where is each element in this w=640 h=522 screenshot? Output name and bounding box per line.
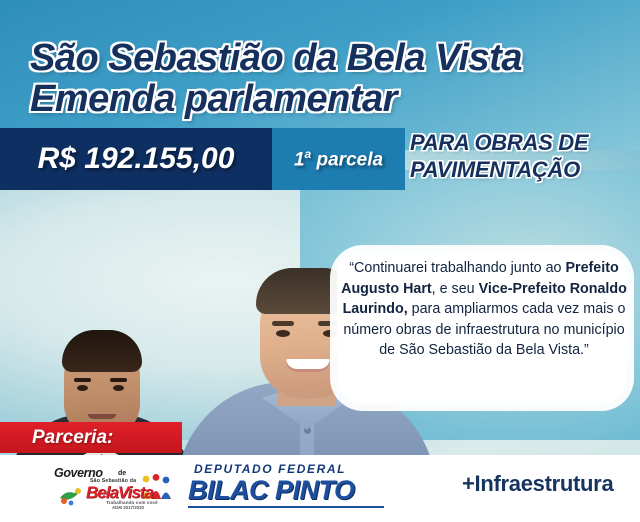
gov-logo-tagline-2: ADM 2017/2020 xyxy=(112,505,144,510)
mayor-eye-right xyxy=(113,385,124,391)
purpose-line-2: PAVIMENTAÇÃO xyxy=(410,157,580,182)
partnership-label: Parceria: xyxy=(32,427,113,449)
quote-text: “Continuarei trabalhando junto ao Prefei… xyxy=(340,258,628,361)
installment-word: parcela xyxy=(311,149,383,170)
slogan-text: +Infraestrutura xyxy=(462,471,613,497)
installment-label: 1a parcela xyxy=(294,147,383,171)
quote-mid: , e seu xyxy=(432,281,479,297)
deputy-brow-left xyxy=(272,321,294,326)
deputy-name: BILAC PINTO xyxy=(188,476,388,504)
installment-bar: 1a parcela xyxy=(272,128,405,190)
mayor-hair xyxy=(62,330,142,372)
purpose-line-1: PARA OBRAS DE xyxy=(410,130,588,155)
gov-logo-de: de xyxy=(118,470,126,477)
deputy-role: DEPUTADO FEDERAL xyxy=(194,462,388,476)
mayor-mouth xyxy=(88,414,116,419)
headline-line-2: Emenda parlamentar xyxy=(30,79,630,120)
poster-headline: São Sebastião da Bela Vista Emenda parla… xyxy=(30,38,630,120)
deputy-eye-left xyxy=(276,330,290,337)
installment-number: 1 xyxy=(294,149,305,170)
amount-value: R$ 192.155,00 xyxy=(38,142,235,176)
deputy-eye-right xyxy=(323,330,337,337)
bird-flower-icon xyxy=(58,484,84,506)
deputy-rule xyxy=(188,506,384,508)
headline-line-1: São Sebastião da Bela Vista xyxy=(30,37,522,79)
mayor-brow-right xyxy=(110,378,127,382)
campaign-poster: São Sebastião da Bela Vista Emenda parla… xyxy=(0,0,640,522)
poster-footer: Governo de São Sebastião da BelaVista Tr… xyxy=(0,455,640,522)
mayor-brow-left xyxy=(74,378,91,382)
deputy-logo: DEPUTADO FEDERAL BILAC PINTO xyxy=(188,462,388,508)
quote-open: “Continuarei trabalhando junto ao xyxy=(349,260,565,276)
deputy-mouth xyxy=(286,359,330,372)
purpose-text: PARA OBRAS DE PAVIMENTAÇÃO xyxy=(410,129,640,183)
partnership-banner: Parceria: xyxy=(0,422,182,453)
amount-bar: R$ 192.155,00 xyxy=(0,128,272,190)
mayor-eye-left xyxy=(77,385,88,391)
government-logo: Governo de São Sebastião da BelaVista Tr… xyxy=(50,466,175,510)
